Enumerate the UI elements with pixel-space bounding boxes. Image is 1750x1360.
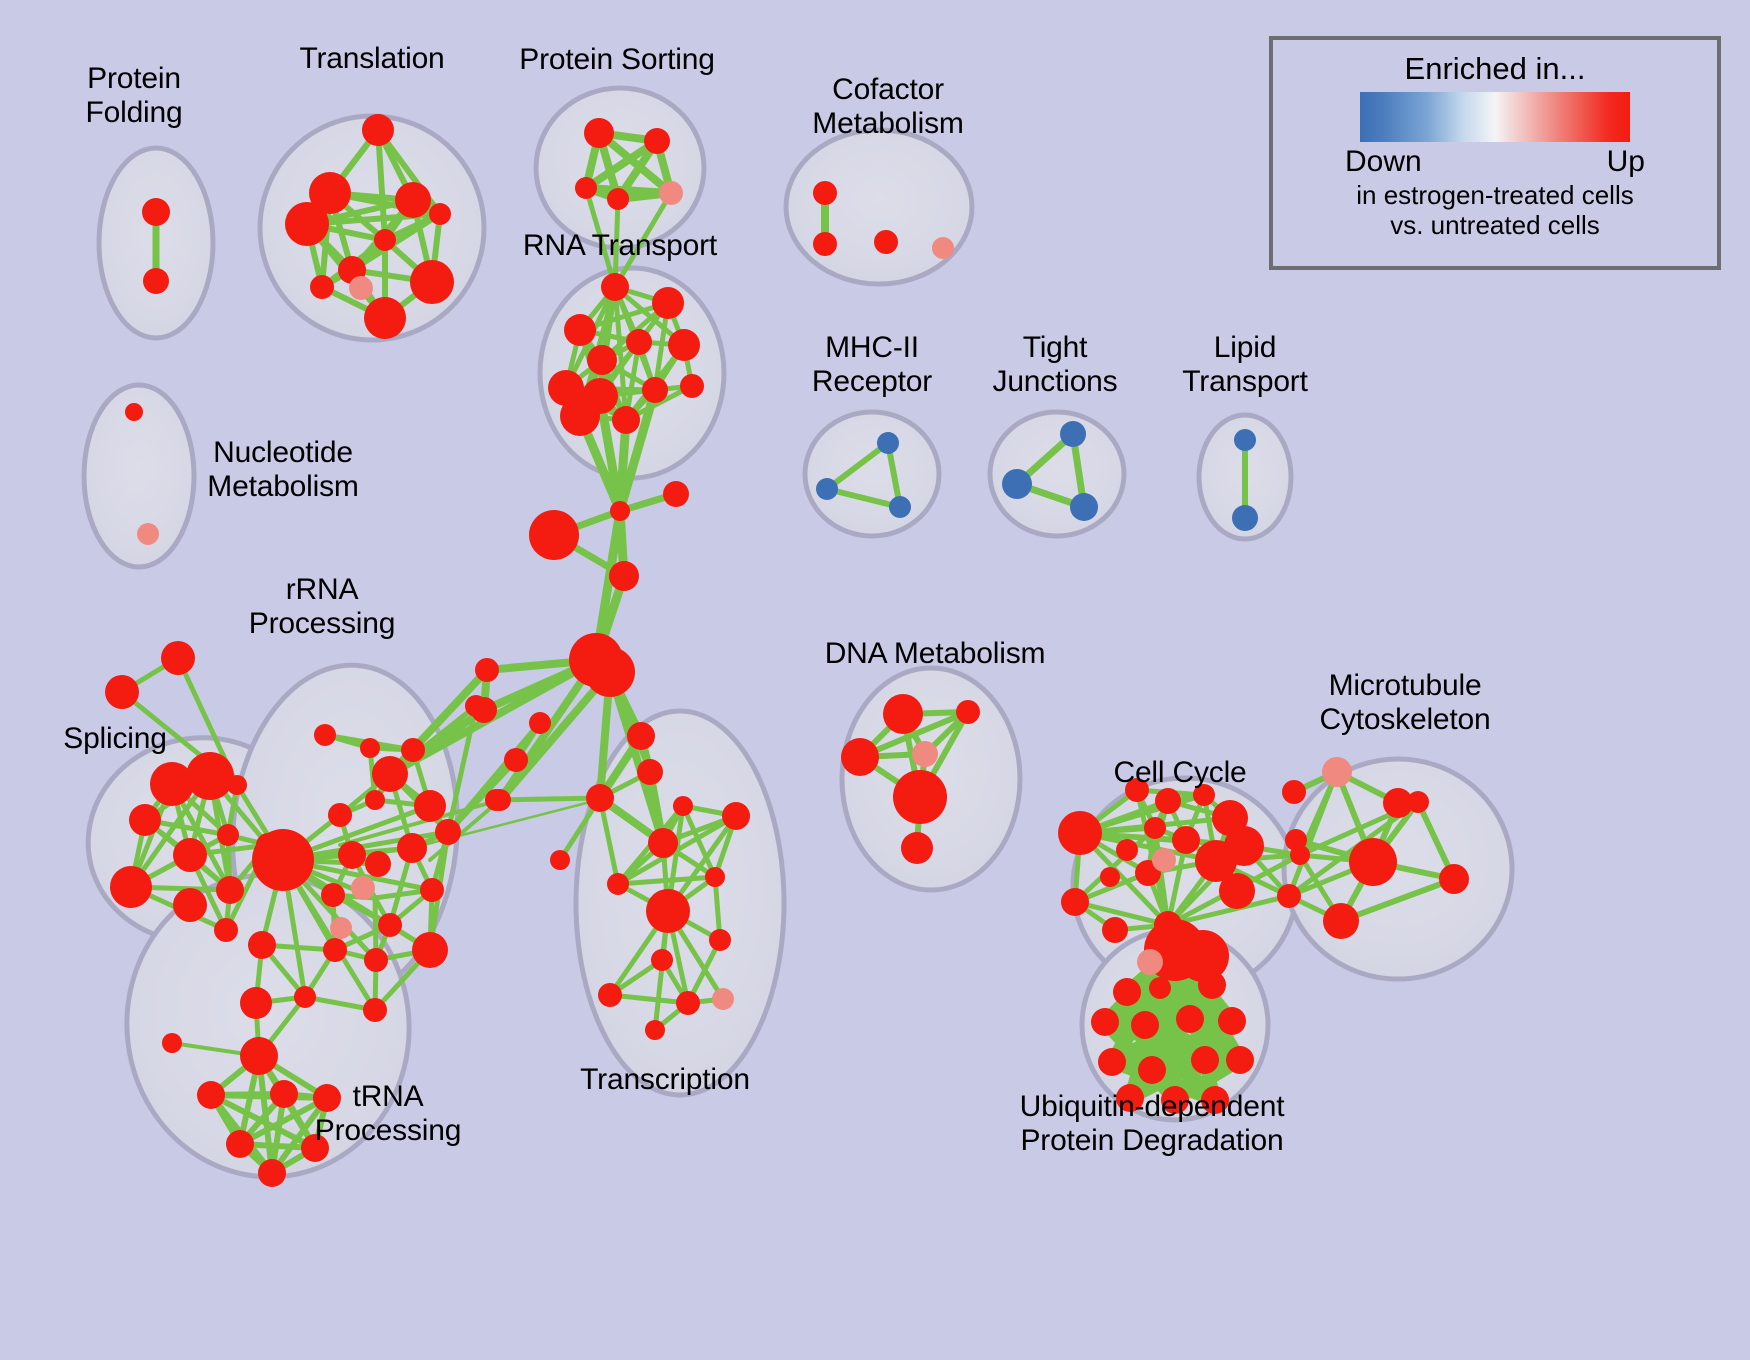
- node: [646, 889, 690, 933]
- node: [598, 983, 622, 1007]
- node: [626, 329, 652, 355]
- legend-up-label: Up: [1607, 144, 1645, 180]
- legend-subtitle-line-1: in estrogen-treated cells: [1356, 180, 1633, 210]
- halo-cofactor-metabolism: [786, 130, 972, 284]
- node: [397, 833, 427, 863]
- node: [1172, 826, 1200, 854]
- node: [1323, 903, 1359, 939]
- node: [637, 759, 663, 785]
- node: [217, 824, 239, 846]
- node: [652, 287, 684, 319]
- node: [1131, 1011, 1159, 1039]
- label-rna-transport: RNA Transport: [523, 229, 717, 263]
- label-trna-processing: tRNA Processing: [315, 1080, 461, 1148]
- node: [310, 275, 334, 299]
- node: [1061, 888, 1089, 916]
- node: [186, 752, 234, 800]
- node: [912, 741, 938, 767]
- node: [129, 804, 161, 836]
- node: [125, 403, 143, 421]
- node: [564, 314, 596, 346]
- node: [504, 748, 528, 772]
- node: [1102, 917, 1128, 943]
- node: [813, 232, 837, 256]
- node: [351, 876, 375, 900]
- node: [143, 268, 169, 294]
- node: [529, 712, 551, 734]
- node: [816, 478, 838, 500]
- node: [901, 832, 933, 864]
- node: [813, 181, 837, 205]
- node: [465, 695, 487, 717]
- node: [575, 177, 597, 199]
- node: [841, 738, 879, 776]
- node: [142, 198, 170, 226]
- node: [601, 273, 629, 301]
- node: [258, 1159, 286, 1187]
- legend-endpoints: Down Up: [1345, 144, 1645, 180]
- halo-mhc-ii-receptor: [805, 412, 939, 536]
- node: [874, 230, 898, 254]
- node: [673, 796, 693, 816]
- node: [364, 297, 406, 339]
- node: [321, 883, 345, 907]
- node: [676, 991, 700, 1015]
- node: [644, 128, 670, 154]
- node: [285, 202, 329, 246]
- node: [705, 867, 725, 887]
- node: [663, 481, 689, 507]
- node: [584, 118, 614, 148]
- node: [1144, 817, 1166, 839]
- node: [1176, 1005, 1204, 1033]
- label-dna-metabolism: DNA Metabolism: [825, 637, 1046, 671]
- node: [485, 789, 507, 811]
- node: [412, 932, 448, 968]
- node: [1138, 1056, 1166, 1084]
- node: [1137, 949, 1163, 975]
- node: [610, 501, 630, 521]
- legend-panel: Enriched in... Down Up in estrogen-treat…: [1269, 36, 1721, 270]
- node: [883, 694, 923, 734]
- node: [374, 229, 396, 251]
- node: [1234, 429, 1256, 451]
- label-microtubule-cytoskeleton: Microtubule Cytoskeleton: [1319, 669, 1490, 737]
- node: [110, 866, 152, 908]
- node: [360, 738, 380, 758]
- node: [550, 850, 570, 870]
- node: [1177, 930, 1229, 982]
- node: [410, 260, 454, 304]
- node: [349, 276, 373, 300]
- figure-canvas: Protein Folding Translation Protein Sort…: [0, 0, 1750, 1360]
- node: [609, 561, 639, 591]
- node: [651, 949, 673, 971]
- node: [365, 790, 385, 810]
- node: [627, 722, 655, 750]
- node: [1322, 757, 1352, 787]
- node: [338, 841, 366, 869]
- node: [214, 918, 238, 942]
- node: [240, 1037, 278, 1075]
- node: [1277, 884, 1301, 908]
- label-translation: Translation: [299, 42, 444, 76]
- node: [1191, 1046, 1219, 1074]
- legend-subtitle-line-2: vs. untreated cells: [1390, 210, 1600, 240]
- node: [722, 802, 750, 830]
- label-splicing: Splicing: [63, 722, 166, 756]
- node: [365, 851, 391, 877]
- node: [1100, 867, 1120, 887]
- node: [197, 1081, 225, 1109]
- node: [1002, 469, 1032, 499]
- node: [1152, 848, 1176, 872]
- node: [475, 658, 499, 682]
- node: [642, 377, 668, 403]
- node: [105, 675, 139, 709]
- node: [1091, 1008, 1119, 1036]
- node: [362, 114, 394, 146]
- node: [709, 929, 731, 951]
- node: [612, 406, 640, 434]
- legend-color-bar: [1360, 92, 1630, 142]
- legend-title: Enriched in...: [1405, 50, 1586, 88]
- node: [435, 819, 461, 845]
- node: [586, 784, 614, 812]
- node: [363, 998, 387, 1022]
- node: [956, 700, 980, 724]
- node: [378, 913, 402, 937]
- node: [1407, 791, 1429, 813]
- node: [1218, 1007, 1246, 1035]
- node: [893, 770, 947, 824]
- node: [137, 523, 159, 545]
- label-tight-junctions: Tight Junctions: [993, 331, 1118, 399]
- node: [173, 838, 207, 872]
- node: [330, 917, 352, 939]
- label-cofactor-metabolism: Cofactor Metabolism: [812, 73, 963, 141]
- label-transcription: Transcription: [580, 1063, 750, 1097]
- label-mhc-ii-receptor: MHC-II Receptor: [812, 331, 932, 399]
- node: [1226, 1046, 1254, 1074]
- node: [645, 1020, 665, 1040]
- node: [1290, 845, 1310, 865]
- node: [248, 931, 276, 959]
- node: [173, 888, 207, 922]
- label-lipid-transport: Lipid Transport: [1182, 331, 1307, 399]
- label-protein-sorting: Protein Sorting: [519, 43, 714, 77]
- node: [932, 237, 954, 259]
- label-ubiquitin-protein-degradation: Ubiquitin-dependent Protein Degradation: [1020, 1090, 1285, 1158]
- label-nucleotide-metabolism: Nucleotide Metabolism: [207, 436, 358, 504]
- node: [372, 756, 408, 792]
- node: [712, 988, 734, 1010]
- node: [529, 510, 579, 560]
- node: [323, 938, 347, 962]
- node: [1282, 780, 1306, 804]
- node: [162, 1033, 182, 1053]
- node: [429, 203, 451, 225]
- node: [607, 873, 629, 895]
- node: [420, 878, 444, 902]
- node: [1116, 839, 1138, 861]
- node: [607, 188, 629, 210]
- node: [560, 396, 600, 436]
- label-cell-cycle: Cell Cycle: [1113, 756, 1246, 790]
- node: [240, 987, 272, 1019]
- node: [395, 182, 431, 218]
- node: [659, 181, 683, 205]
- node: [364, 948, 388, 972]
- node: [1149, 977, 1171, 999]
- node: [216, 876, 244, 904]
- node: [328, 803, 352, 827]
- node: [587, 345, 617, 375]
- node: [1219, 873, 1255, 909]
- node: [1060, 421, 1086, 447]
- label-protein-folding: Protein Folding: [86, 62, 183, 130]
- node: [668, 329, 700, 361]
- node: [270, 1080, 298, 1108]
- node: [1058, 811, 1102, 855]
- label-rrna-processing: rRNA Processing: [249, 573, 395, 641]
- node: [226, 1130, 254, 1158]
- node: [585, 647, 635, 697]
- node: [1439, 864, 1469, 894]
- node: [680, 374, 704, 398]
- node: [1070, 493, 1098, 521]
- node: [1098, 1048, 1126, 1076]
- node: [1349, 838, 1397, 886]
- node: [401, 738, 425, 762]
- node: [1232, 505, 1258, 531]
- node: [889, 496, 911, 518]
- node: [877, 432, 899, 454]
- node: [1155, 788, 1181, 814]
- node: [314, 724, 336, 746]
- node: [648, 828, 678, 858]
- node: [1113, 978, 1141, 1006]
- node: [1224, 826, 1264, 866]
- node: [294, 986, 316, 1008]
- node: [252, 829, 314, 891]
- node: [161, 641, 195, 675]
- node: [414, 790, 446, 822]
- legend-down-label: Down: [1345, 144, 1422, 180]
